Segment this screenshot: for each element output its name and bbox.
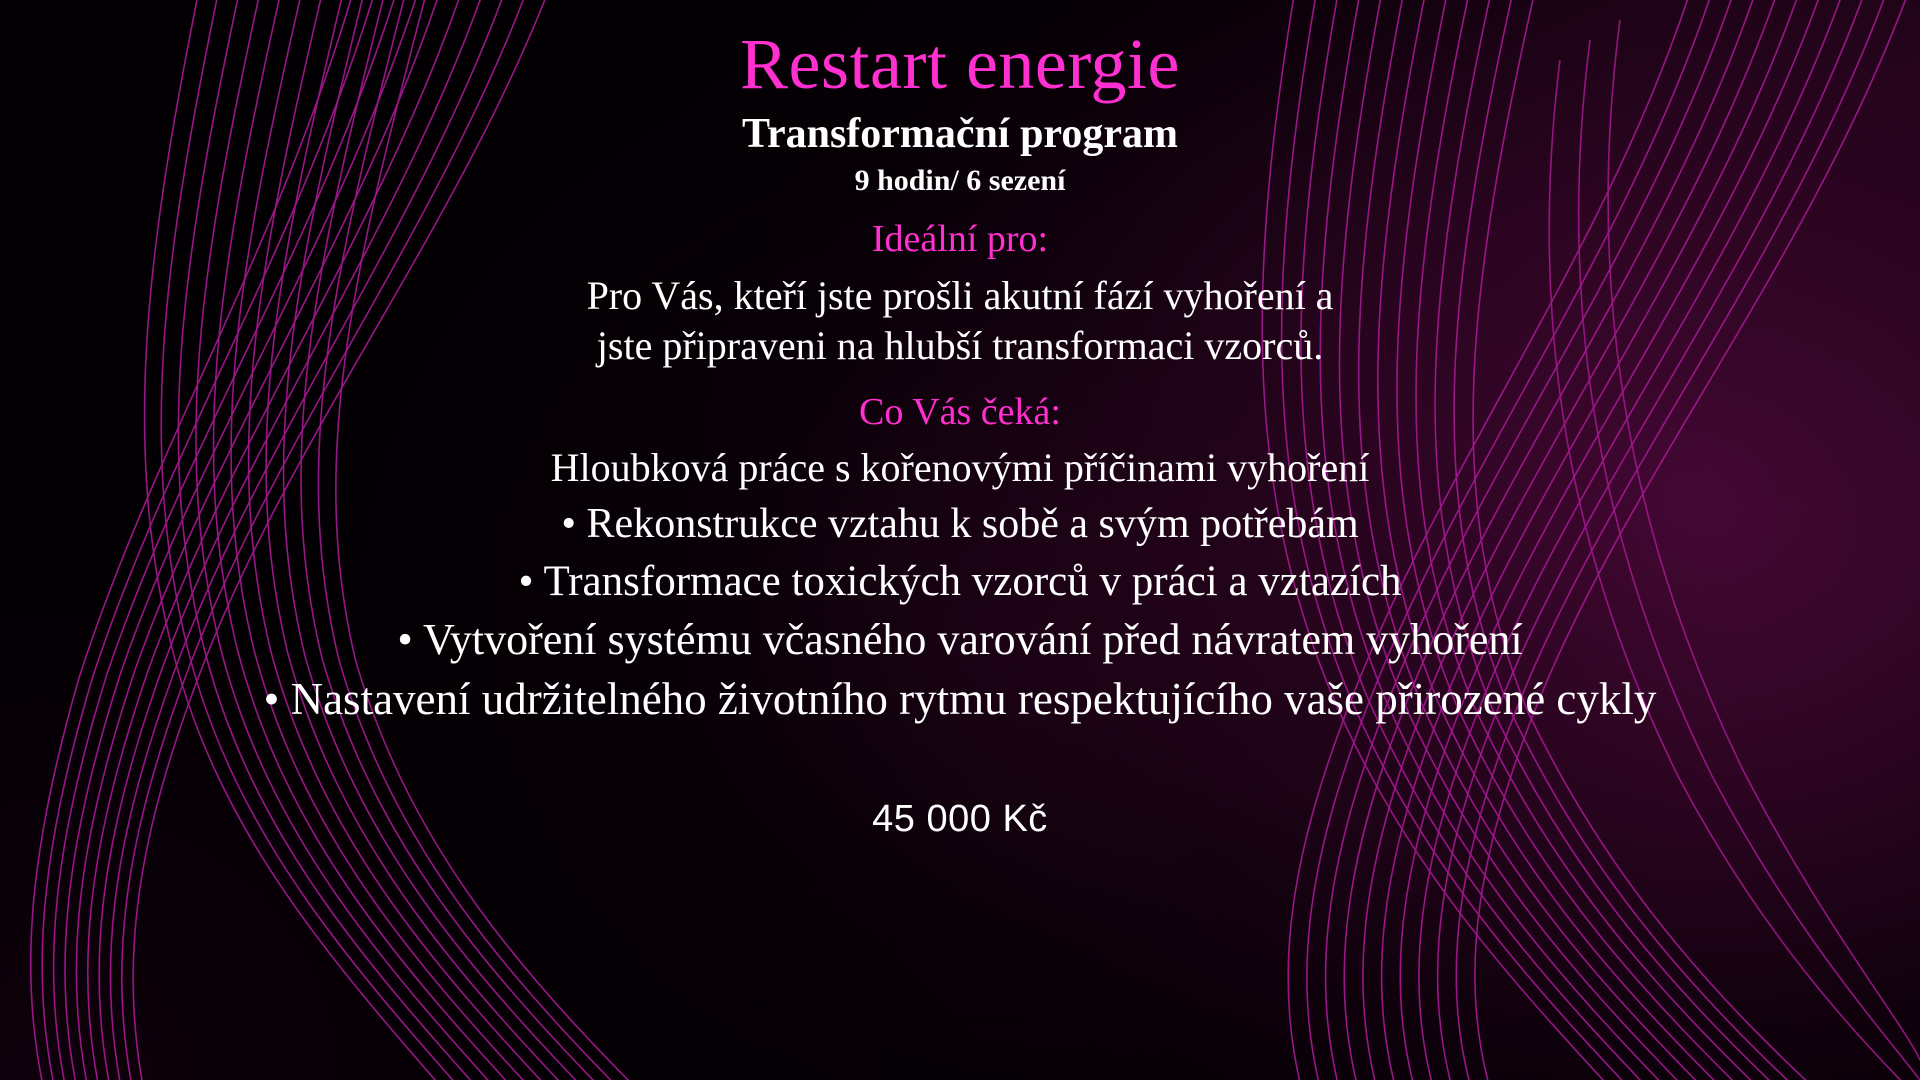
presentation-slide: Restart energie Transformační program 9 … (0, 0, 1920, 1080)
ideal-for-line: Pro Vás, kteří jste prošli akutní fází v… (587, 273, 1334, 319)
program-duration: 9 hodin/ 6 sezení (855, 164, 1066, 197)
slide-title: Restart energie (740, 28, 1180, 100)
expect-bullet-item: • Transformace toxických vzorců v práci … (518, 557, 1401, 607)
expect-bullet-item: • Vytvoření systému včasného varování př… (397, 614, 1522, 665)
slide-subtitle: Transformační program (742, 112, 1178, 156)
program-price: 45 000 Kč (872, 798, 1048, 841)
ideal-for-line: jste připraveni na hlubší transformaci v… (597, 323, 1323, 369)
expect-bullet-item: • Rekonstrukce vztahu k sobě a svým potř… (561, 500, 1358, 549)
ideal-for-heading: Ideální pro: (872, 219, 1048, 261)
expect-line: Hloubková práce s kořenovými příčinami v… (551, 445, 1370, 491)
expect-bullet-item: • Nastavení udržitelného životního rytmu… (264, 673, 1657, 725)
slide-content: Restart energie Transformační program 9 … (0, 0, 1920, 1080)
what-to-expect-heading: Co Vás čeká: (859, 392, 1061, 434)
